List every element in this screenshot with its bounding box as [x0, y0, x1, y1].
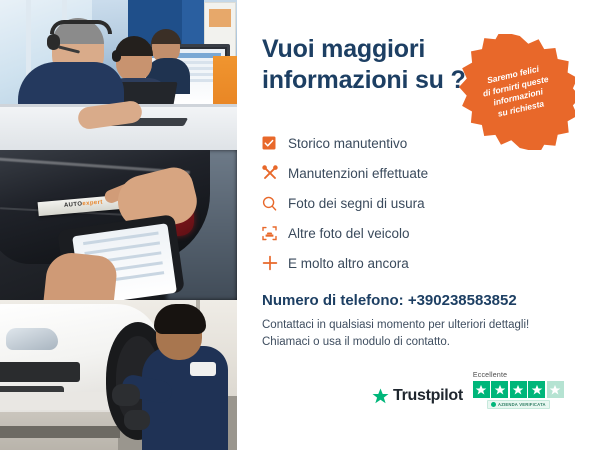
magnifier-icon [262, 196, 288, 211]
star-2 [491, 381, 508, 398]
list-item[interactable]: Manutenzioni effettuate [262, 158, 562, 188]
rating-label: Eccellente [473, 372, 507, 379]
verified-label: AZIENDA VERIFICATA [498, 402, 546, 407]
star-3 [510, 381, 527, 398]
page-title-line-1: Vuoi maggiori [262, 34, 477, 65]
call-center-agents-photo [0, 0, 237, 150]
list-item[interactable]: Altre foto del veicolo [262, 218, 562, 248]
contact-note: Contattaci in qualsiasi momento per ulte… [262, 317, 592, 351]
crossed-wrenches-icon [262, 165, 288, 181]
car-inspection-tablet-photo: AUTOexpert [0, 150, 237, 300]
photo-column: AUTOexpert [0, 0, 237, 450]
content-panel: Vuoi maggiori informazioni su ? Saremo f… [237, 0, 600, 450]
list-item-label: Manutenzioni effettuate [288, 166, 428, 181]
trustpilot-rating: Eccellente AZIENDA VERIFICATA [473, 372, 564, 409]
verified-company-badge: AZIENDA VERIFICATA [487, 400, 550, 409]
agent-2-headset-earcup [112, 50, 121, 62]
mechanic-hair [154, 304, 206, 334]
list-item[interactable]: Storico manutentivo [262, 128, 562, 158]
mechanic-glove-2 [124, 410, 150, 430]
page-title-line-2: informazioni su ? [262, 65, 477, 96]
inspector-hand-lower [44, 250, 119, 300]
list-item[interactable]: Foto dei segni di usura [262, 188, 562, 218]
list-item-label: Foto dei segni di usura [288, 196, 425, 211]
list-item-label: Storico manutentivo [288, 136, 407, 151]
trustpilot-star-icon [372, 388, 389, 405]
list-item[interactable]: E molto altro ancora [262, 248, 562, 278]
trustpilot-logo: Trustpilot [372, 387, 463, 409]
trustpilot-brand: Trustpilot [393, 387, 463, 405]
car-photo-frame-icon [262, 226, 288, 241]
agent-1-headset-band [50, 20, 112, 34]
mechanic-glove [112, 384, 140, 406]
promo-banner: AUTOexpert [0, 0, 600, 450]
plus-icon [262, 255, 288, 271]
headset-icon [447, 44, 470, 63]
star-4 [528, 381, 545, 398]
mechanic-wheel-photo [0, 300, 237, 450]
contact-note-line-2: Chiamaci o usa il modulo di contatto. [262, 334, 592, 351]
list-item-label: Altre foto del veicolo [288, 226, 410, 241]
phone-number[interactable]: Numero di telefono: +390238583852 [262, 292, 517, 309]
trustpilot-widget[interactable]: Trustpilot Eccellente AZIENDA VERIFICATA [372, 372, 564, 409]
verified-check-icon [491, 402, 496, 407]
mechanic-uniform-logo [190, 362, 216, 376]
list-item-label: E molto altro ancora [288, 256, 409, 271]
contact-note-line-1: Contattaci in qualsiasi momento per ulte… [262, 317, 592, 334]
car-grille [0, 362, 80, 382]
car-lift-platform [0, 426, 120, 438]
feature-list: Storico manutentivo Manutenzioni effettu… [262, 128, 562, 278]
car-headlight [6, 328, 58, 350]
star-5-half [547, 381, 564, 398]
page-title: Vuoi maggiori informazioni su ? [262, 34, 477, 96]
checkbox-checked-icon [262, 136, 288, 150]
star-rating [473, 381, 564, 398]
star-1 [473, 381, 490, 398]
